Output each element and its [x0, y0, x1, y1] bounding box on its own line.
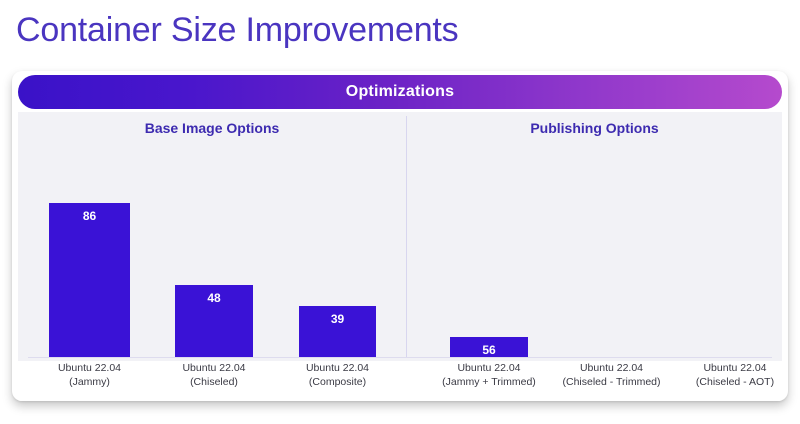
category-label-line1: Ubuntu 22.04: [182, 362, 245, 374]
category-label-line2: (Jammy + Trimmed): [422, 375, 556, 389]
bar-value-label: 56: [450, 343, 528, 357]
chart-card: Optimizations Base Image Options Publish…: [12, 71, 788, 401]
category-label-line2: (Chiseled - Trimmed): [545, 375, 678, 389]
category-label: Ubuntu 22.04(Jammy + Trimmed): [422, 361, 556, 389]
category-label-line2: (Composite): [271, 375, 404, 389]
optimizations-banner: Optimizations: [18, 75, 782, 109]
category-label-line2: (Chiseled - AOT): [668, 375, 788, 389]
bar-value-label: 86: [49, 209, 130, 223]
bar-value-label: 48: [175, 291, 253, 305]
category-label: Ubuntu 22.04(Chiseled - AOT): [668, 361, 788, 389]
slide-root: Container Size Improvements Optimization…: [0, 0, 800, 424]
category-label: Ubuntu 22.04(Chiseled): [147, 361, 281, 389]
panel-title-publishing-options: Publishing Options: [407, 120, 782, 136]
banner-label: Optimizations: [346, 83, 454, 101]
bar[interactable]: [49, 203, 130, 357]
category-label-line1: Ubuntu 22.04: [306, 362, 369, 374]
category-label-line1: Ubuntu 22.04: [457, 362, 520, 374]
category-label-line1: Ubuntu 22.04: [58, 362, 121, 374]
bar-value-label: 39: [299, 312, 376, 326]
category-label-line1: Ubuntu 22.04: [580, 362, 643, 374]
category-label: Ubuntu 22.04(Chiseled - Trimmed): [545, 361, 678, 389]
category-label-line1: Ubuntu 22.04: [703, 362, 766, 374]
category-label: Ubuntu 22.04(Jammy): [21, 361, 158, 389]
category-labels: Ubuntu 22.04(Jammy)Ubuntu 22.04(Chiseled…: [18, 361, 782, 401]
category-label-line2: (Chiseled): [147, 375, 281, 389]
category-label: Ubuntu 22.04(Composite): [271, 361, 404, 389]
category-label-line2: (Jammy): [21, 375, 158, 389]
panel-title-base-image-options: Base Image Options: [18, 120, 406, 136]
plot-area: Base Image Options Publishing Options 86…: [18, 112, 782, 361]
x-axis-line: [28, 357, 772, 358]
page-title: Container Size Improvements: [16, 8, 458, 52]
panel-divider: [406, 116, 407, 357]
